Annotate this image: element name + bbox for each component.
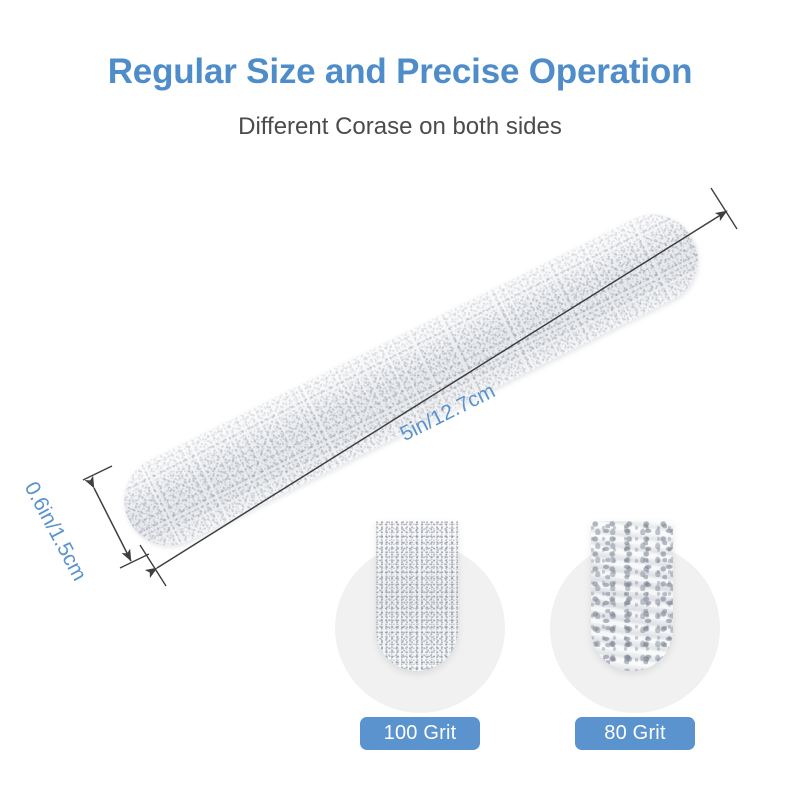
nail-file-illustration bbox=[109, 199, 713, 561]
grit-detail-coarse bbox=[550, 543, 720, 713]
page-subtitle: Different Corase on both sides bbox=[0, 113, 800, 141]
grit-badge-80: 80 Grit bbox=[575, 717, 695, 750]
page-title: Regular Size and Precise Operation bbox=[0, 52, 800, 92]
grit-badge-100: 100 Grit bbox=[360, 717, 480, 750]
fine-grit-swatch bbox=[376, 521, 458, 671]
infographic-canvas: Regular Size and Precise Operation Diffe… bbox=[0, 0, 800, 800]
nail-file-abrasive-surface bbox=[109, 199, 713, 561]
coarse-grit-swatch bbox=[591, 521, 673, 671]
grit-detail-fine bbox=[335, 543, 505, 713]
width-dimension-label: 0.6in/1.5cm bbox=[19, 478, 91, 585]
